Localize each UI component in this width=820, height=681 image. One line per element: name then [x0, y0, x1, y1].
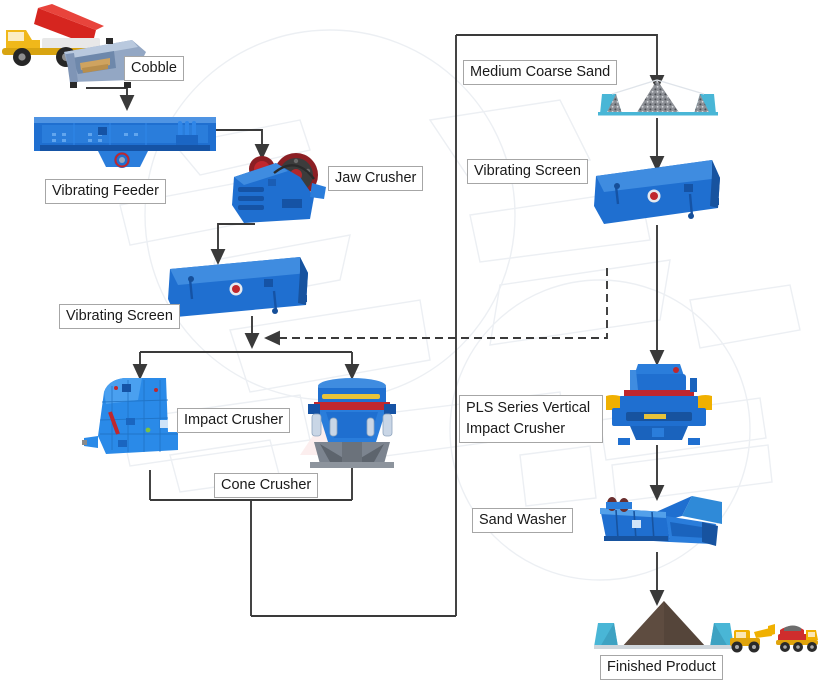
label-pls-vertical-impact-crusher: PLS Series Vertical Impact Crusher — [459, 395, 603, 443]
vibrating-feeder-icon — [32, 113, 218, 171]
flowchart-canvas: Cobble Vibrating Feeder Jaw Crusher Vibr… — [0, 0, 820, 681]
cone-crusher-icon — [300, 372, 404, 470]
label-vibrating-screen-right: Vibrating Screen — [467, 159, 588, 184]
label-sand-washer: Sand Washer — [472, 508, 573, 533]
label-medium-coarse-sand: Medium Coarse Sand — [463, 60, 617, 85]
label-jaw-crusher: Jaw Crusher — [328, 166, 423, 191]
jaw-crusher-icon — [224, 143, 332, 229]
haul-truck-icon — [776, 618, 820, 654]
label-cobble: Cobble — [124, 56, 184, 81]
label-vibrating-feeder: Vibrating Feeder — [45, 179, 166, 204]
label-vibrating-screen-left: Vibrating Screen — [59, 304, 180, 329]
impact-crusher-icon — [82, 372, 186, 470]
label-finished-product: Finished Product — [600, 655, 723, 680]
vibrating-screen-icon — [166, 253, 312, 321]
finished-product-pile-icon — [592, 597, 736, 659]
label-impact-crusher: Impact Crusher — [177, 408, 290, 433]
sand-washer-icon — [596, 492, 728, 554]
vibrating-screen-icon — [592, 158, 724, 228]
label-pls-line2: Impact Crusher — [466, 421, 565, 437]
label-pls-line1: PLS Series Vertical — [466, 400, 590, 416]
label-cone-crusher: Cone Crusher — [214, 473, 318, 498]
edge-recirculation-dashed — [272, 268, 607, 338]
pls-vertical-impact-crusher-icon — [604, 362, 714, 446]
wheel-loader-icon — [728, 620, 776, 654]
